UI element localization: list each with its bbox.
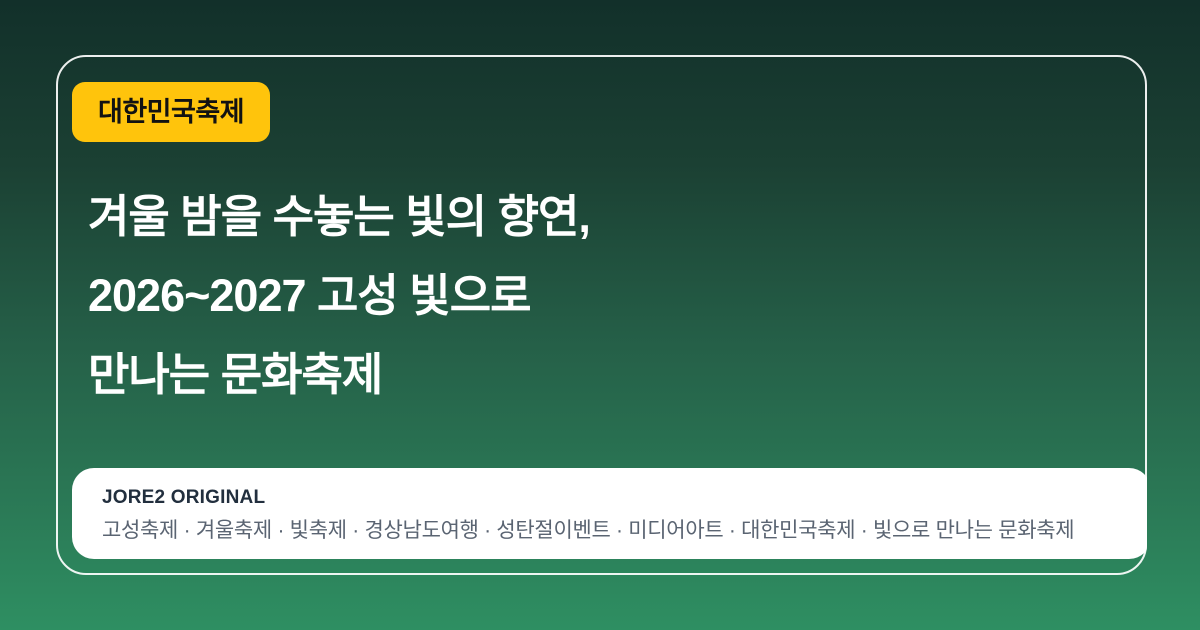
- category-badge-label: 대한민국축제: [98, 99, 244, 126]
- brand-label: JORE2 ORIGINAL: [102, 486, 1147, 510]
- info-card-inner: JORE2 ORIGINAL 고성축제 · 겨울축제 · 빛축제 · 경상남도여…: [102, 486, 1147, 546]
- tag-list: 고성축제 · 겨울축제 · 빛축제 · 경상남도여행 · 성탄절이벤트 · 미디…: [102, 516, 1147, 546]
- og-card-canvas: 대한민국축제 겨울 밤을 수놓는 빛의 향연, 2026~2027 고성 빛으로…: [0, 0, 1200, 630]
- page-title: 겨울 밤을 수놓는 빛의 향연, 2026~2027 고성 빛으로 만나는 문화…: [88, 177, 1118, 414]
- info-card: JORE2 ORIGINAL 고성축제 · 겨울축제 · 빛축제 · 경상남도여…: [72, 468, 1147, 559]
- card-content-area: 대한민국축제 겨울 밤을 수놓는 빛의 향연, 2026~2027 고성 빛으로…: [56, 55, 1147, 575]
- category-badge[interactable]: 대한민국축제: [72, 82, 270, 142]
